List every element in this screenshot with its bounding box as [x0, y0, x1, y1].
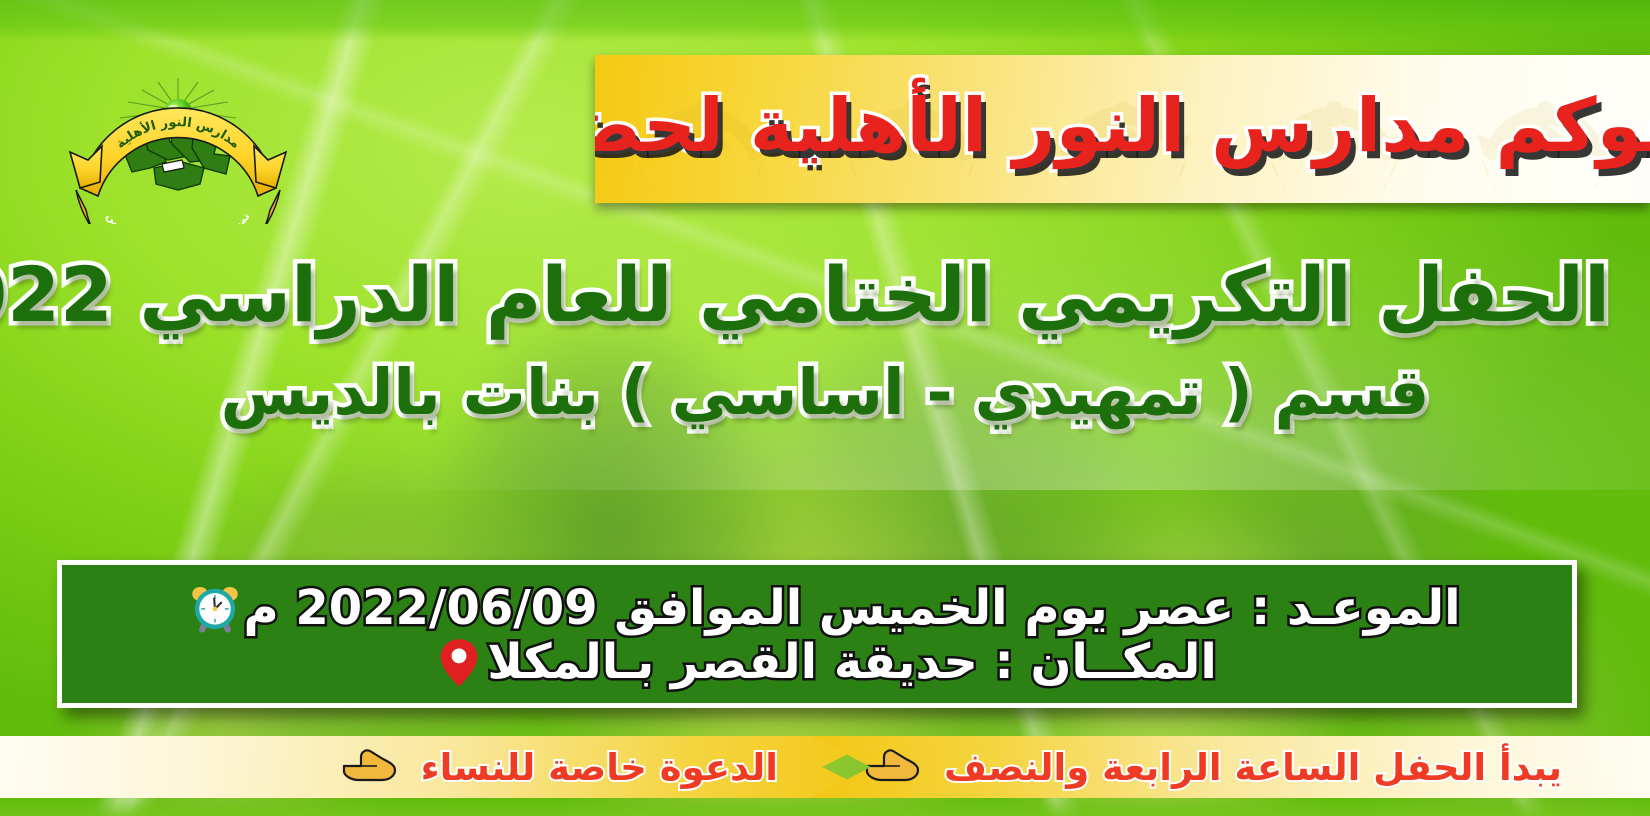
bottom-ribbons: الدعوة خاصة للنساء يبدأ الحفل الساعة الر… [0, 724, 1650, 816]
detail-location-text: المكــان : حديقة القصر بـالمكلا [487, 634, 1217, 690]
ribbon-start-time: يبدأ الحفل الساعة الرابعة والنصف [812, 736, 1650, 798]
background-foliage-photo [0, 130, 1650, 816]
alarm-clock-icon [187, 580, 243, 636]
ribbon-start-time-text: يبدأ الحفل الساعة الرابعة والنصف [944, 746, 1562, 789]
background-top-band [0, 0, 1650, 42]
event-subtitle: قسم ( تمهيدي - اساسي ) بنات بالديس [0, 356, 1650, 429]
location-pin-icon [431, 634, 487, 690]
detail-row-location: المكــان : حديقة القصر بـالمكلا [62, 634, 1572, 690]
pointing-hand-icon [862, 744, 924, 790]
header-invitation-text: تدعوكم مدارس النور الأهلية لحضور [595, 55, 1650, 203]
event-details-box: الموعـد : عصر يوم الخميس الموافق 2022/06… [57, 560, 1577, 708]
detail-row-datetime: الموعـد : عصر يوم الخميس الموافق 2022/06… [62, 580, 1572, 636]
invitation-poster: مدارس النور الأهلية تمهيدي ٠ أساسي ٠ ثان… [0, 0, 1650, 816]
header-banner: تدعوكم مدارس النور الأهلية لحضور [595, 55, 1650, 203]
ribbon-women-only-text: الدعوة خاصة للنساء [421, 746, 778, 789]
svg-text:تمهيدي ٠ أساسي ٠ ثانوي ٠ بنين: تمهيدي ٠ أساسي ٠ ثانوي ٠ بنين [104, 211, 253, 224]
event-title: الحفل التكريمي الختامي للعام الدراسي 200… [0, 250, 1650, 340]
detail-datetime-text: الموعـد : عصر يوم الخميس الموافق 2022/06… [243, 580, 1460, 636]
school-logo: مدارس النور الأهلية تمهيدي ٠ أساسي ٠ ثان… [58, 64, 298, 224]
title-block: الحفل التكريمي الختامي للعام الدراسي 200… [0, 250, 1650, 429]
ribbon-women-only: الدعوة خاصة للنساء [0, 736, 884, 798]
pointing-hand-icon [339, 744, 401, 790]
